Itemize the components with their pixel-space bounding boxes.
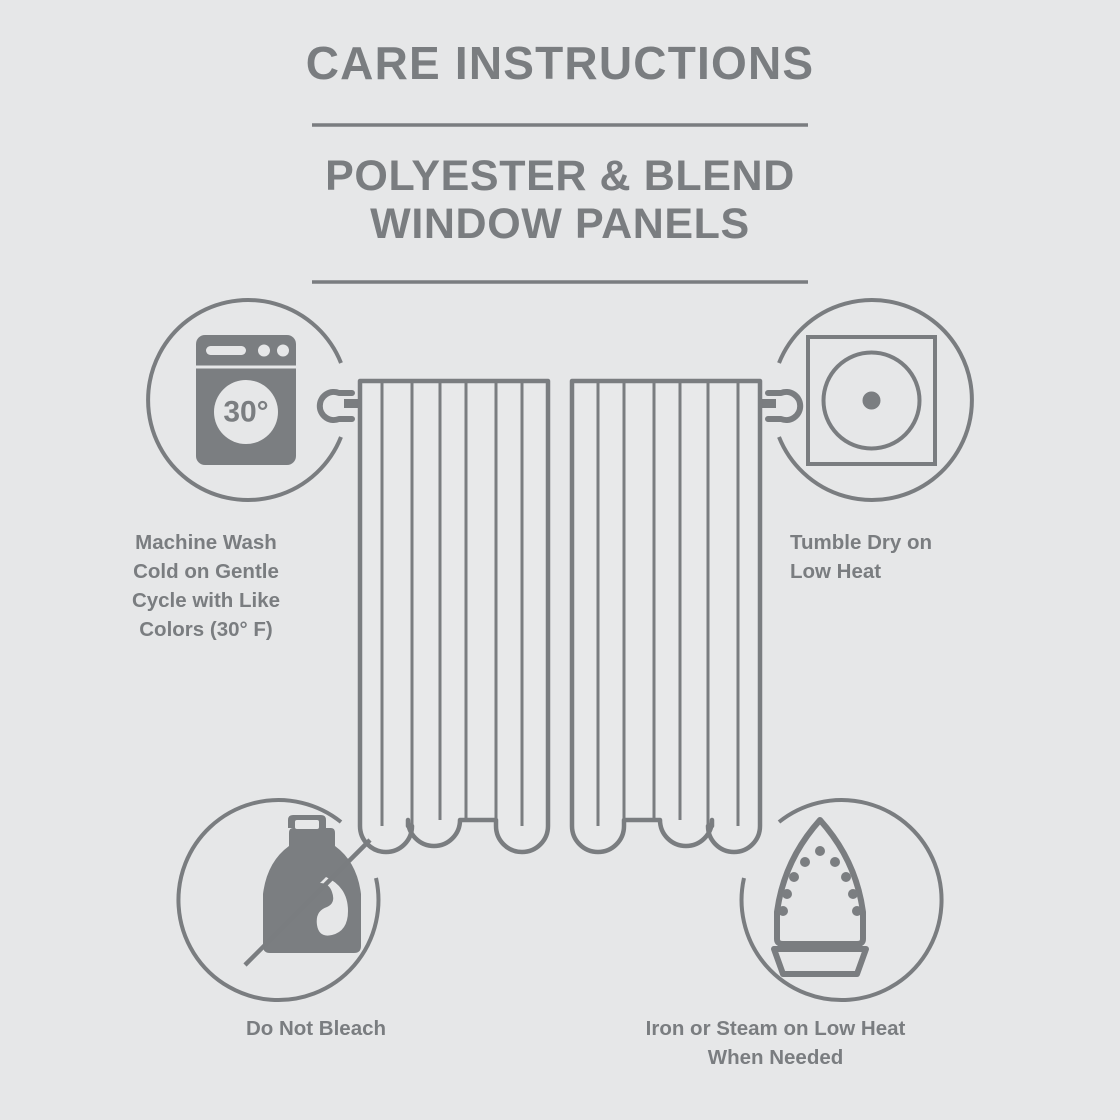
symbol-tumble-dry — [779, 300, 972, 500]
curtain-panel-left — [360, 381, 548, 852]
curtain-illustration — [320, 381, 800, 852]
curtain-finial-right — [758, 392, 800, 420]
symbol-iron-low-heat — [742, 800, 942, 1000]
no-bleach-icon — [245, 815, 370, 965]
machine-wash-temperature-badge: 30° — [223, 396, 268, 429]
tumble-dry-low-icon — [808, 337, 935, 464]
symbol-machine-wash: 30° — [148, 300, 341, 500]
curtain-finial-left — [320, 392, 362, 420]
care-instructions-infographic: CARE INSTRUCTIONS POLYESTER & BLEND WIND… — [0, 0, 1120, 1120]
iron-low-heat-ring — [742, 800, 942, 1000]
curtain-panel-right — [572, 381, 760, 852]
infographic-artwork: 30° — [0, 0, 1120, 1120]
symbol-do-not-bleach — [178, 800, 378, 1000]
iron-low-heat-icon — [774, 820, 866, 974]
